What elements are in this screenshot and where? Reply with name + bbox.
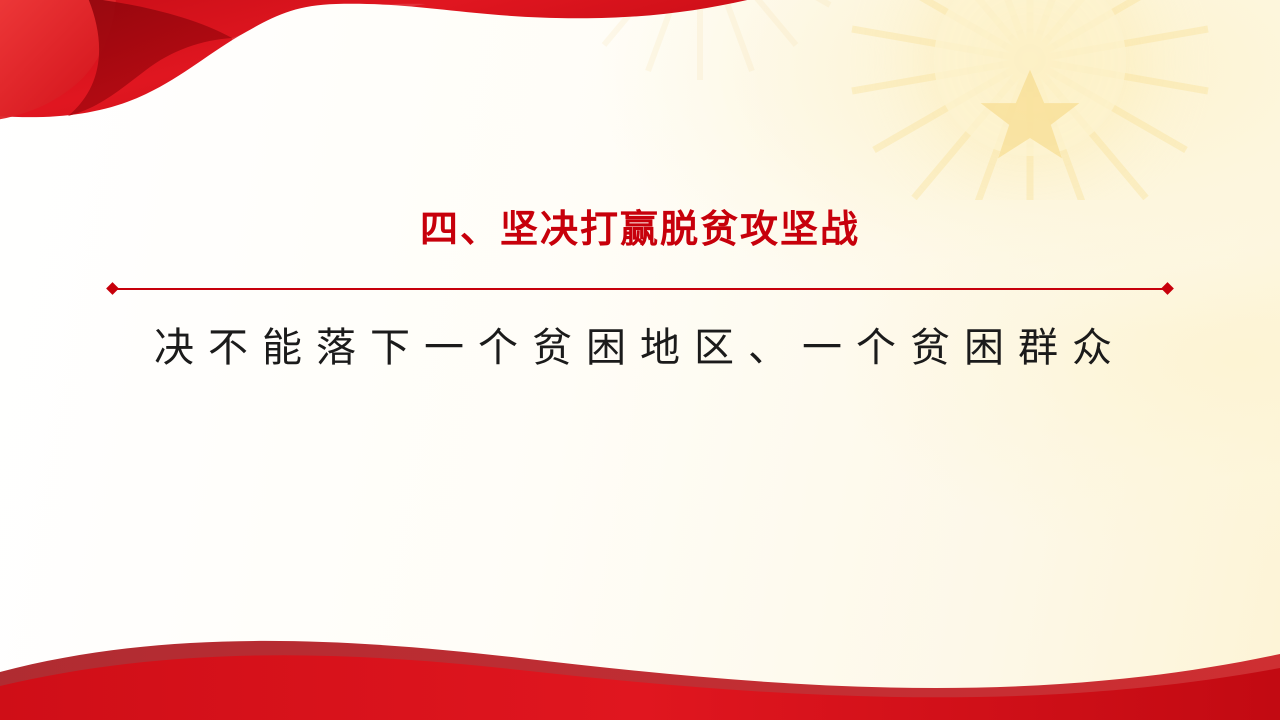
top-ribbon-decoration	[0, 0, 756, 178]
diamond-right-icon	[1161, 282, 1174, 295]
bottom-wave-decoration	[0, 600, 1280, 720]
divider-line	[116, 288, 1164, 290]
slide-subtitle: 决不能落下一个贫困地区、一个贫困群众	[0, 315, 1280, 373]
divider	[108, 283, 1172, 295]
page-title: 四、坚决打赢脱贫攻坚战	[0, 198, 1280, 253]
presentation-slide: 四、坚决打赢脱贫攻坚战 决不能落下一个贫困地区、一个贫困群众	[0, 0, 1280, 720]
